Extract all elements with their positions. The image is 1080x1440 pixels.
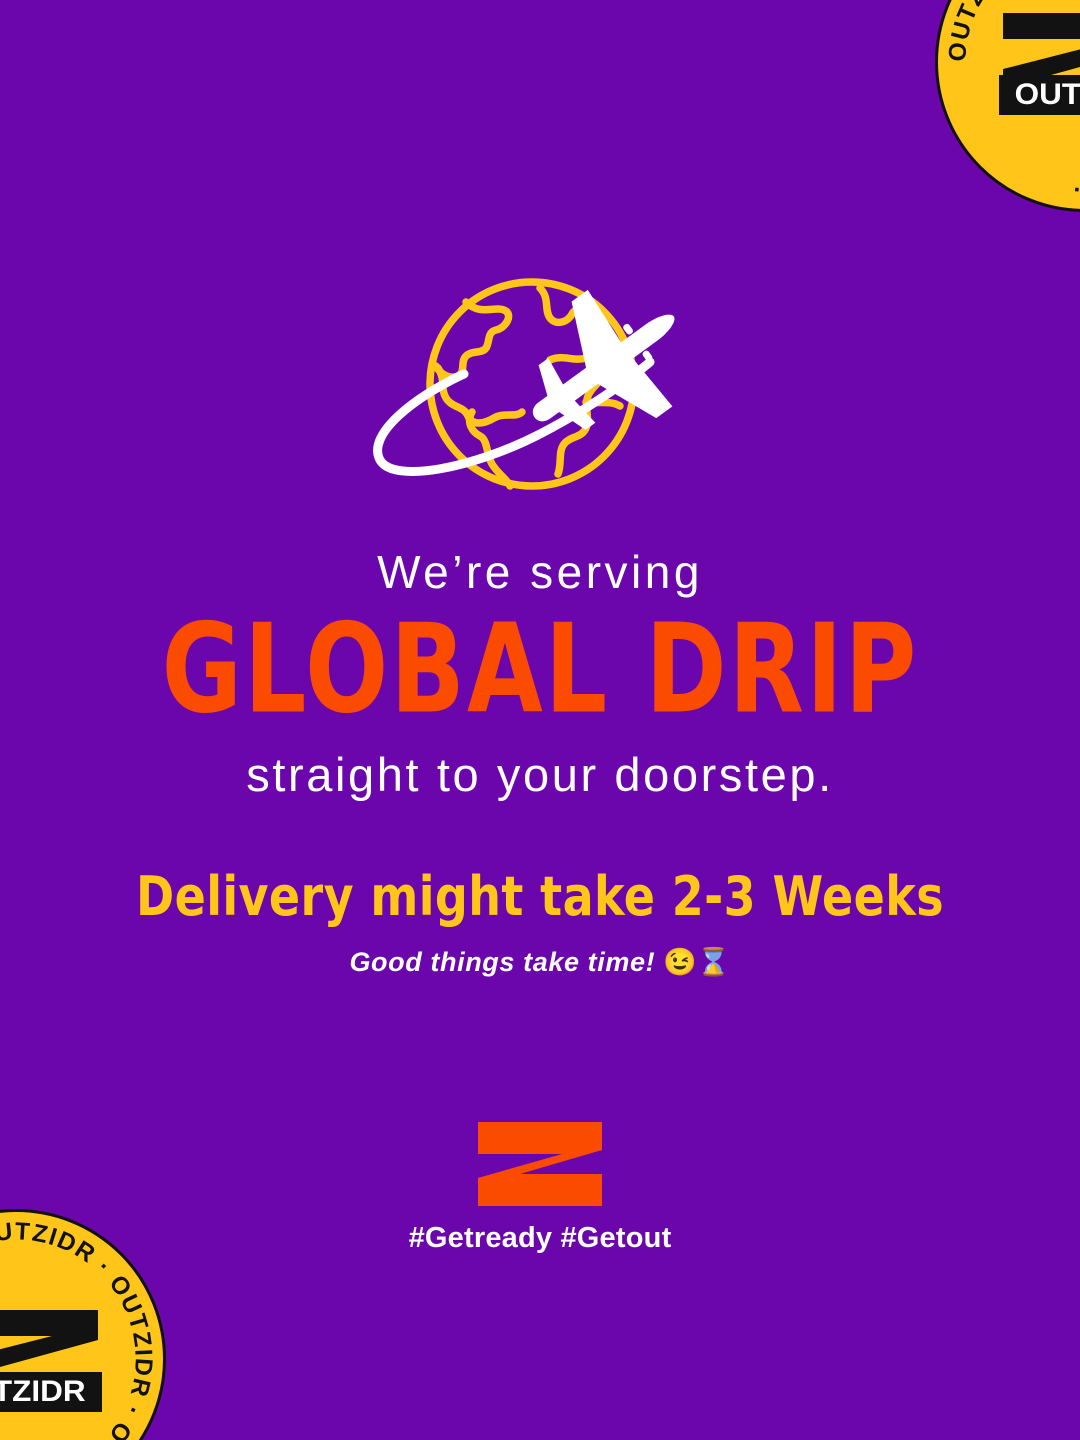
reassurance-text: Good things take time! <box>349 947 655 977</box>
badge-wordmark-text: OUTZIDR <box>0 1375 86 1409</box>
hero-illustration <box>0 276 1080 508</box>
eyebrow-text: We’re serving <box>0 548 1080 596</box>
poster-canvas: OUTZIDR · OUTZIDR · OUTZIDR · OUTZIDR · … <box>0 0 1080 1440</box>
subline-text: straight to your doorstep. <box>0 750 1080 799</box>
badge-core-bottom-left: OUTZIDR <box>0 1306 102 1412</box>
copy-block: We’re serving GLOBAL DRIP straight to yo… <box>0 548 1080 976</box>
badge-top-right: OUTZIDR · OUTZIDR · OUTZIDR · OUTZIDR · … <box>935 0 1080 212</box>
globe-airplane-icon <box>354 276 726 508</box>
reassurance-emoji: 😉⌛ <box>663 947 730 977</box>
outzidr-z-logo <box>478 1122 602 1206</box>
reassurance-line: Good things take time! 😉⌛ <box>0 948 1080 976</box>
badge-wordmark-text: OUTZIDR <box>1015 78 1080 112</box>
badge-wordmark-top-right: OUTZIDR <box>999 75 1080 115</box>
badge-bottom-left: OUTZIDR · OUTZIDR · OUTZIDR · OUTZIDR · … <box>0 1209 166 1440</box>
badge-wordmark-bottom-left: OUTZIDR <box>0 1372 102 1412</box>
badge-core-top-right: OUTZIDR <box>999 9 1080 115</box>
delivery-note-text: Delivery might take 2-3 Weeks <box>0 867 1080 924</box>
headline-text: GLOBAL DRIP <box>0 608 1080 731</box>
